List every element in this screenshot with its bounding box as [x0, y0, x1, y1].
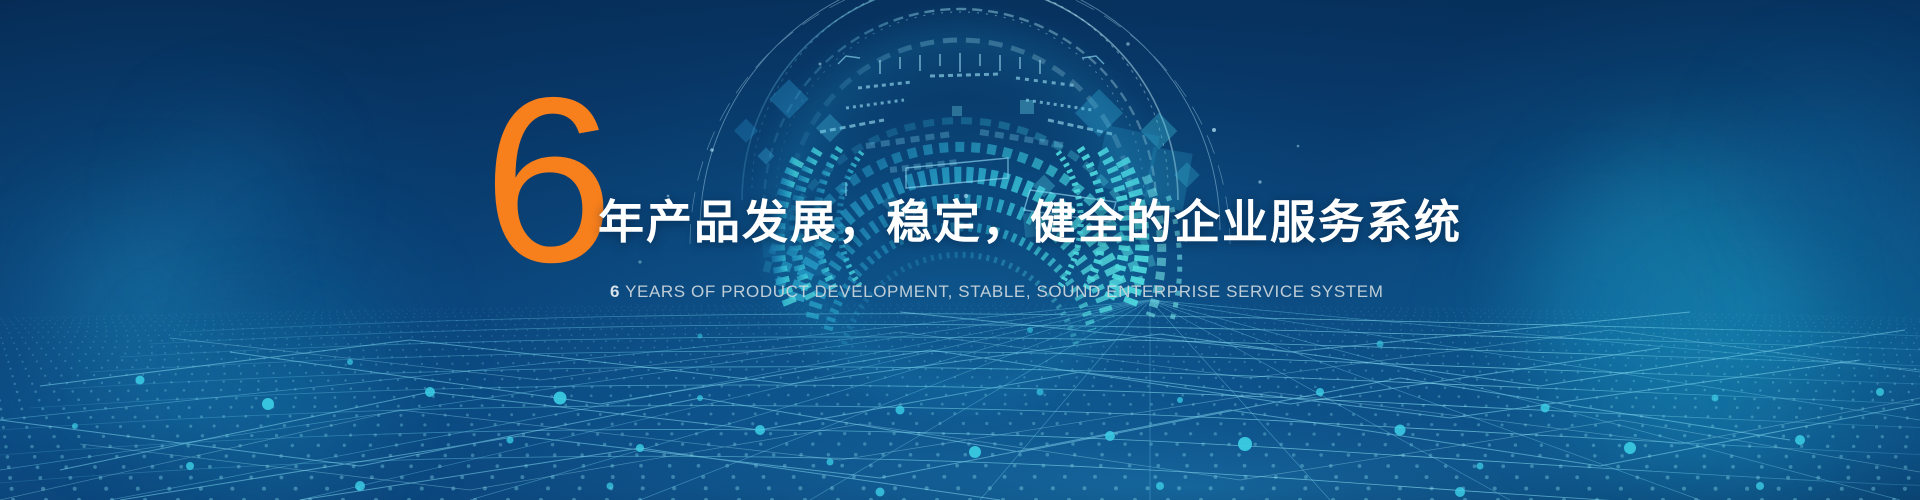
- subtitle-lead-number: 6: [610, 282, 620, 301]
- bokeh-blob: [1660, 290, 1860, 500]
- bokeh-blob: [250, 250, 400, 480]
- hero-banner: 6 年产品发展，稳定，健全的企业服务系统 6 YEARS OF PRODUCT …: [0, 0, 1920, 500]
- headline-group: 6 年产品发展，稳定，健全的企业服务系统 6 YEARS OF PRODUCT …: [0, 0, 1920, 500]
- wireframe-network-terrain: [0, 0, 1920, 500]
- bokeh-blob: [60, 210, 230, 420]
- bokeh-blob: [175, 120, 295, 270]
- tech-hud-ring: [0, 0, 1920, 500]
- big-number-6: 6: [483, 62, 612, 297]
- bokeh-blob: [1750, 80, 1900, 270]
- bokeh-blob: [1550, 150, 1790, 470]
- bokeh-blob: [1500, 210, 1670, 450]
- headline-chinese: 年产品发展，稳定，健全的企业服务系统: [598, 196, 1462, 248]
- subtitle-english: 6 YEARS OF PRODUCT DEVELOPMENT, STABLE, …: [610, 282, 1383, 302]
- bokeh-blob: [150, 330, 350, 500]
- subtitle-text: YEARS OF PRODUCT DEVELOPMENT, STABLE, SO…: [625, 282, 1383, 301]
